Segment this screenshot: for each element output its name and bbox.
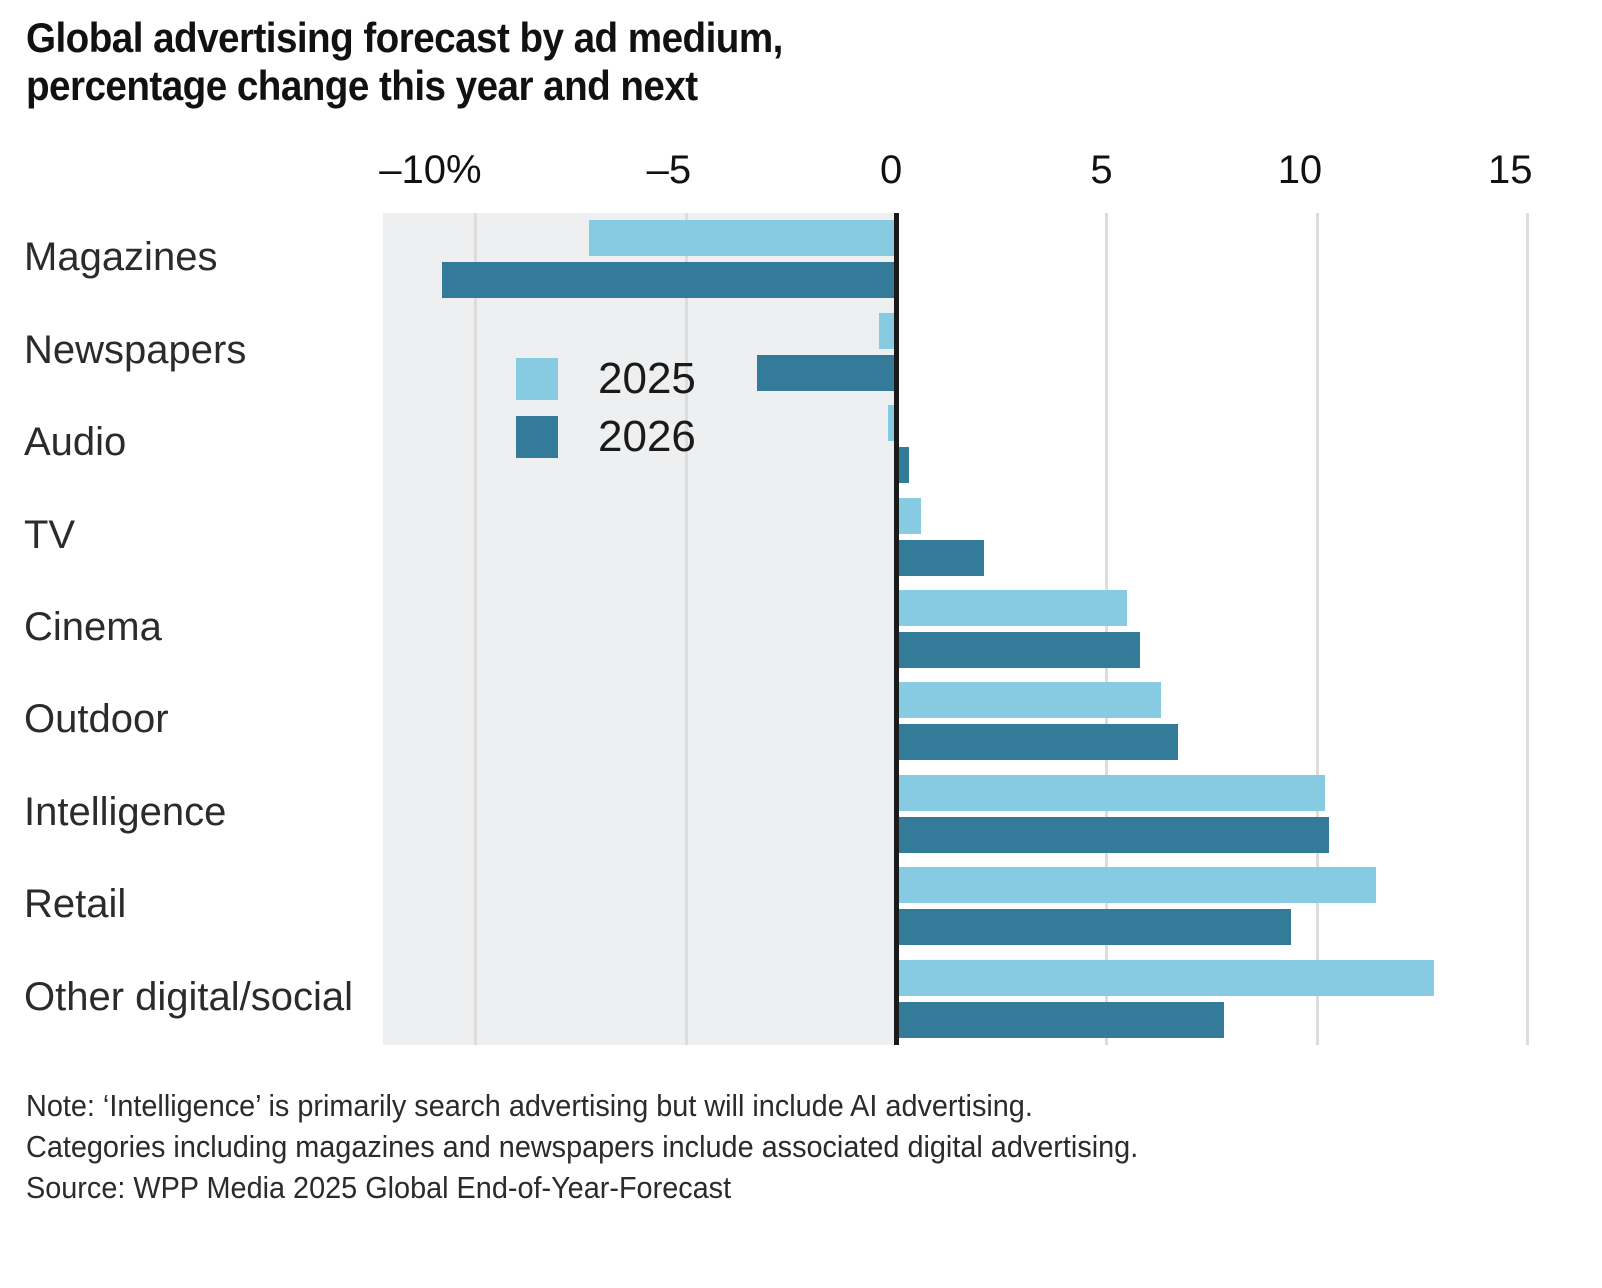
- bar-2026-outdoor: [896, 724, 1178, 760]
- x-axis-tick-label: 0: [880, 150, 902, 190]
- y-axis-category-label: Intelligence: [24, 792, 226, 832]
- legend-item-2026[interactable]: 2026: [516, 408, 696, 466]
- x-axis-tick-label: 15: [1488, 150, 1533, 190]
- bar-2025-intelligence: [896, 775, 1325, 811]
- y-axis-category-label: Cinema: [24, 607, 162, 647]
- y-axis-category-label: Outdoor: [24, 699, 169, 739]
- bar-2025-magazines: [589, 220, 896, 256]
- y-axis-category-label: Newspapers: [24, 330, 246, 370]
- source-line: Source: WPP Media 2025 Global End-of-Yea…: [26, 1167, 1421, 1208]
- legend-label: 2025: [598, 357, 696, 401]
- legend-label: 2026: [598, 415, 696, 459]
- legend-swatch-icon-2025: [516, 358, 558, 400]
- bar-2026-magazines: [442, 262, 896, 298]
- y-axis-category-label: Other digital/social: [24, 977, 353, 1017]
- chart-legend: 20252026: [516, 350, 696, 466]
- y-axis-category-label: Audio: [24, 422, 126, 462]
- bar-2026-other-digital-social: [896, 1002, 1224, 1038]
- gridline-x--10: [474, 213, 477, 1045]
- bar-2026-newspapers: [757, 355, 896, 391]
- bar-2026-cinema: [896, 632, 1140, 668]
- gridline-x-10: [1316, 213, 1319, 1045]
- x-axis-tick-label: 5: [1090, 150, 1112, 190]
- note-line: Note: ‘Intelligence’ is primarily search…: [26, 1085, 1421, 1126]
- bar-2025-outdoor: [896, 682, 1161, 718]
- bar-2026-intelligence: [896, 817, 1329, 853]
- bar-2026-tv: [896, 540, 984, 576]
- bar-2025-other-digital-social: [896, 960, 1434, 996]
- y-axis-category-label: Retail: [24, 884, 126, 924]
- note-line: Categories including magazines and newsp…: [26, 1126, 1421, 1167]
- gridline-x--5: [685, 213, 688, 1045]
- bar-2026-retail: [896, 909, 1291, 945]
- bar-2025-cinema: [896, 590, 1127, 626]
- legend-item-2025[interactable]: 2025: [516, 350, 696, 408]
- legend-swatch-icon-2026: [516, 416, 558, 458]
- negative-region-shading: [383, 213, 896, 1045]
- x-axis-tick-label: –5: [647, 150, 692, 190]
- x-axis-tick-label: –10%: [379, 150, 481, 190]
- y-axis-category-label: TV: [24, 515, 75, 555]
- x-axis-tick-label: 10: [1278, 150, 1323, 190]
- zero-axis-line: [894, 213, 899, 1045]
- y-axis-category-label: Magazines: [24, 237, 217, 277]
- bar-2025-tv: [896, 498, 921, 534]
- chart-footnotes: Note: ‘Intelligence’ is primarily search…: [26, 1085, 1526, 1208]
- bar-2025-retail: [896, 867, 1376, 903]
- gridline-x-15: [1526, 213, 1529, 1045]
